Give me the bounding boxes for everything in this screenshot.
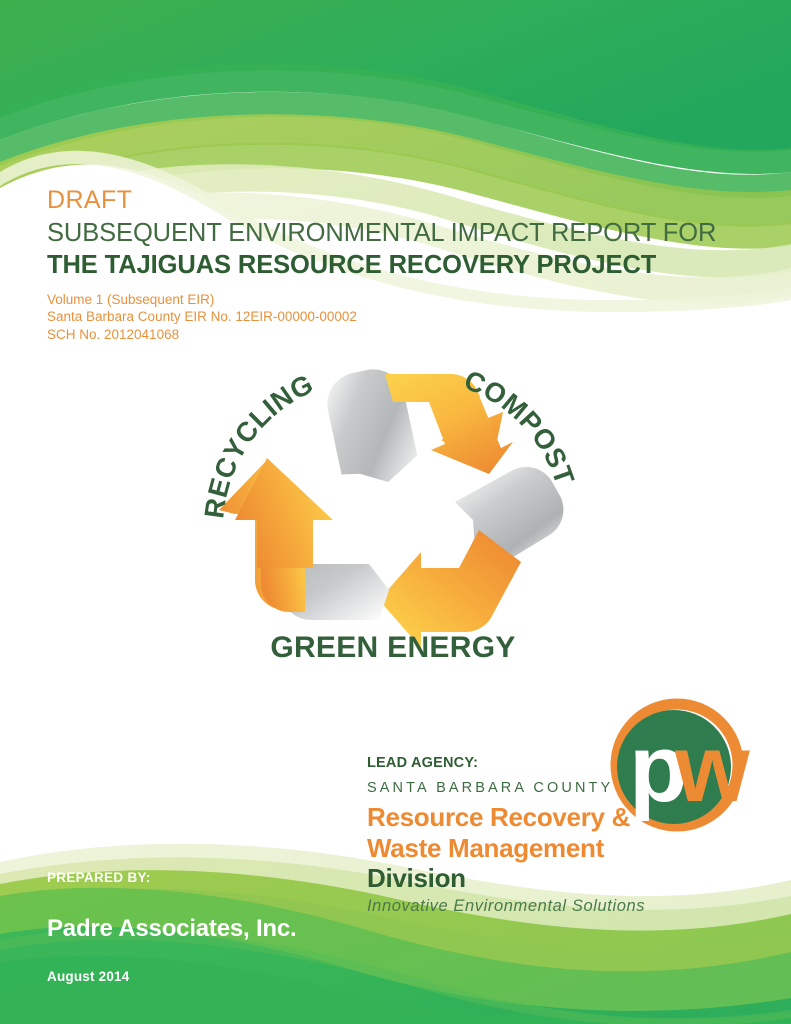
document-cover-page: DRAFT SUBSEQUENT ENVIRONMENTAL IMPACT RE…	[0, 0, 791, 1024]
preparer-name: Padre Associates, Inc.	[47, 915, 447, 943]
lead-agency-name-waste-management: Waste Management	[367, 833, 604, 863]
pw-logo: p w	[607, 697, 757, 857]
prepared-by-label: PREPARED BY:	[47, 870, 447, 885]
draft-label: DRAFT	[47, 186, 747, 216]
subtitle-block: Volume 1 (Subsequent EIR) Santa Barbara …	[47, 291, 747, 344]
prepared-by-block: PREPARED BY: Padre Associates, Inc. Augu…	[47, 870, 447, 984]
subtitle-eir-number: Santa Barbara County EIR No. 12EIR-00000…	[47, 308, 747, 326]
report-title-line-1: SUBSEQUENT ENVIRONMENTAL IMPACT REPORT F…	[47, 218, 747, 249]
recycling-logo: RECYCLING COMPOST GREEN ENERGY	[183, 352, 603, 672]
recycle-label-green-energy: GREEN ENERGY	[270, 631, 515, 664]
pw-logo-letter-w: w	[674, 715, 750, 822]
prepared-date: August 2014	[47, 969, 447, 984]
subtitle-sch-number: SCH No. 2012041068	[47, 326, 747, 344]
title-block: DRAFT SUBSEQUENT ENVIRONMENTAL IMPACT RE…	[47, 186, 747, 344]
report-title-line-2: THE TAJIGUAS RESOURCE RECOVERY PROJECT	[47, 250, 747, 281]
subtitle-volume: Volume 1 (Subsequent EIR)	[47, 291, 747, 309]
